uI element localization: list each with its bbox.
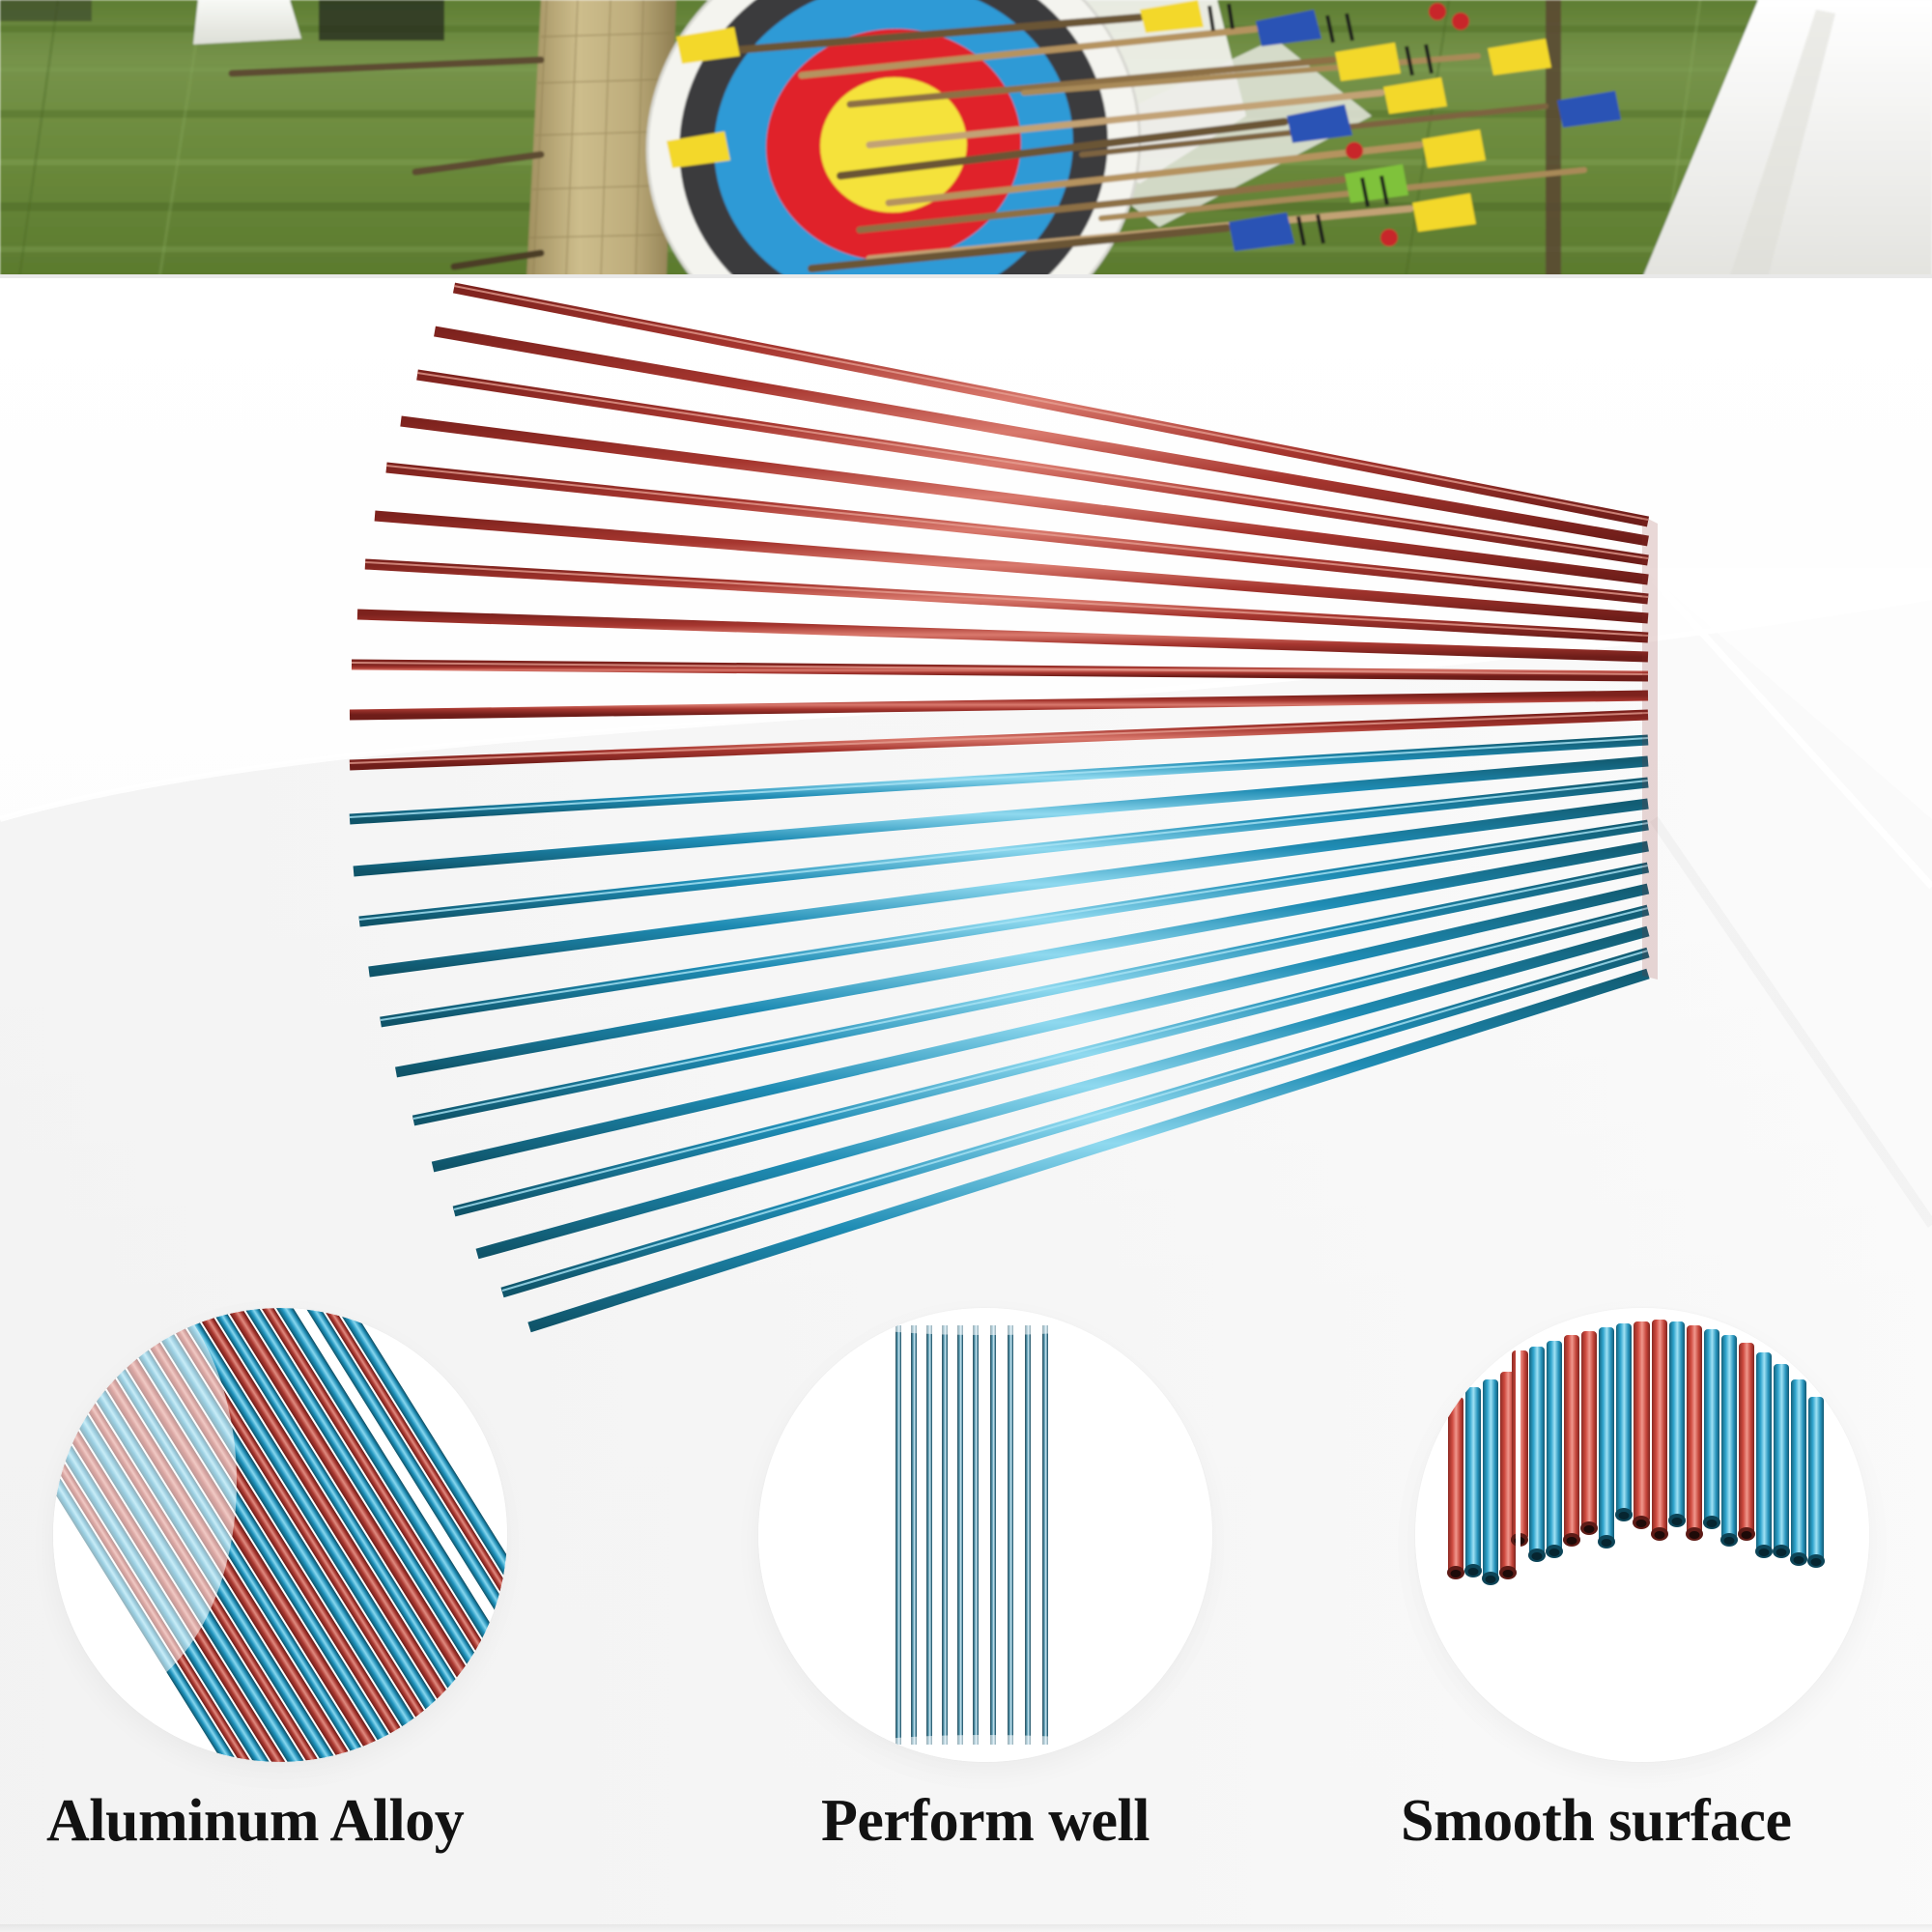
diagonal-shafts-bundle-icon [53, 1308, 507, 1762]
feature-label-aluminum-alloy: Aluminum Alloy [0, 1787, 589, 1856]
feature-smooth-surface[interactable]: Smooth surface [1333, 1285, 1932, 1932]
feature-label-smooth-surface: Smooth surface [1333, 1787, 1932, 1856]
vertical-blue-shafts-icon [758, 1308, 1212, 1762]
feature-aluminum-alloy[interactable]: Aluminum Alloy [0, 1285, 589, 1932]
archery-field-photo [0, 0, 1932, 278]
product-detail-page: Aluminum Alloy [0, 0, 1932, 1932]
shaft-ends-bundle-icon [1415, 1308, 1869, 1762]
feature-label-perform-well: Perform well [676, 1787, 1294, 1856]
feature-perform-well[interactable]: Perform well [676, 1285, 1294, 1932]
feature-row: Aluminum Alloy [0, 1285, 1932, 1932]
bottom-divider [0, 1924, 1932, 1932]
